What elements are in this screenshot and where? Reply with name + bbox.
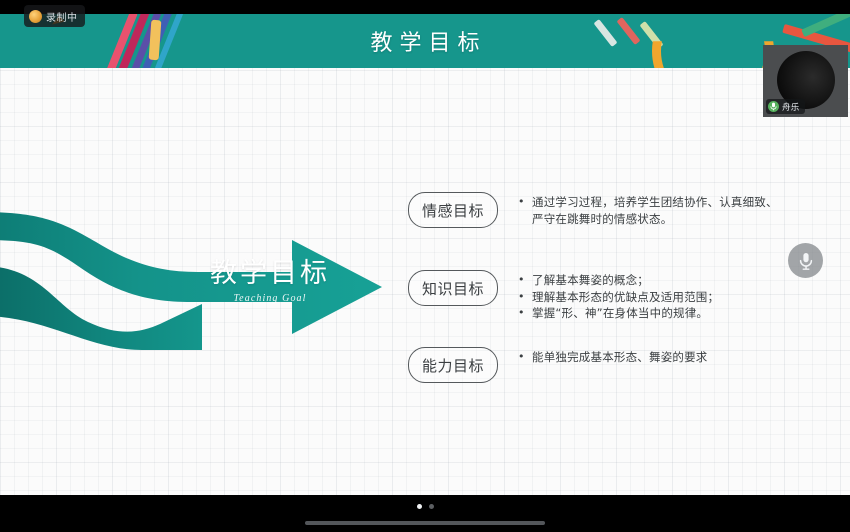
goal-bullets: • 能单独完成基本形态、舞姿的要求 [518, 347, 708, 366]
goal-pill-knowledge: 知识目标 [408, 270, 498, 306]
bullet-text-line2: 严守在跳舞时的情感状态。 [532, 211, 778, 228]
bullet-item: • 掌握“形、神”在身体当中的规律。 [518, 305, 719, 322]
bullet-dot-icon: • [518, 272, 532, 289]
bullet-text: 理解基本形态的优缺点及适用范围； [532, 289, 719, 306]
bullet-text: 通过学习过程，培养学生团结协作、认真细致、 严守在跳舞时的情感状态。 [532, 194, 778, 227]
home-indicator[interactable] [305, 521, 545, 525]
slide-title: 教学目标 [0, 14, 850, 68]
bullet-item: • 理解基本形态的优缺点及适用范围； [518, 289, 719, 306]
participant-name: 舟乐 [782, 101, 800, 113]
bullet-dot-icon: • [518, 349, 532, 366]
bullet-dot-icon: • [518, 194, 532, 211]
goal-row: 知识目标 • 了解基本舞姿的概念； • 理解基本形态的优缺点及适用范围； • 掌… [408, 270, 719, 322]
goal-row: 能力目标 • 能单独完成基本形态、舞姿的要求 [408, 347, 708, 383]
bullet-item: • 了解基本舞姿的概念； [518, 272, 719, 289]
page-dot-active[interactable] [417, 504, 422, 509]
page-indicator[interactable] [0, 495, 850, 517]
bullet-text: 了解基本舞姿的概念； [532, 272, 649, 289]
microphone-icon [768, 101, 779, 112]
microphone-button[interactable] [788, 243, 823, 278]
goal-bullets: • 了解基本舞姿的概念； • 理解基本形态的优缺点及适用范围； • 掌握“形、神… [518, 270, 719, 322]
slide-header-band: 教学目标 [0, 14, 850, 68]
bullet-item: • 能单独完成基本形态、舞姿的要求 [518, 349, 708, 366]
bullet-dot-icon: • [518, 289, 532, 306]
webcam-pip-tile[interactable]: 舟乐 [763, 45, 848, 117]
app-screen: 教学目标 [0, 0, 850, 532]
participant-name-chip: 舟乐 [766, 99, 805, 114]
bullet-text: 能单独完成基本形态、舞姿的要求 [532, 349, 708, 366]
page-dot[interactable] [429, 504, 434, 509]
bullet-item: • 通过学习过程，培养学生团结协作、认真细致、 严守在跳舞时的情感状态。 [518, 194, 778, 227]
goal-pill-emotional: 情感目标 [408, 192, 498, 228]
goal-pill-ability: 能力目标 [408, 347, 498, 383]
goal-bullets: • 通过学习过程，培养学生团结协作、认真细致、 严守在跳舞时的情感状态。 [518, 192, 778, 227]
recording-badge[interactable]: 录制中 [24, 5, 85, 27]
microphone-icon [798, 251, 814, 271]
bullet-dot-icon: • [518, 305, 532, 322]
top-letterbox [0, 0, 850, 14]
record-dot-icon [29, 10, 42, 23]
bullet-text: 掌握“形、神”在身体当中的规律。 [532, 305, 708, 322]
bullet-text-line1: 通过学习过程，培养学生团结协作、认真细致、 [532, 195, 778, 209]
presentation-slide[interactable]: 教学目标 [0, 14, 850, 495]
goal-row: 情感目标 • 通过学习过程，培养学生团结协作、认真细致、 严守在跳舞时的情感状态… [408, 192, 778, 228]
teaching-goal-arrow-graphic [0, 204, 392, 359]
recording-label: 录制中 [46, 9, 78, 24]
